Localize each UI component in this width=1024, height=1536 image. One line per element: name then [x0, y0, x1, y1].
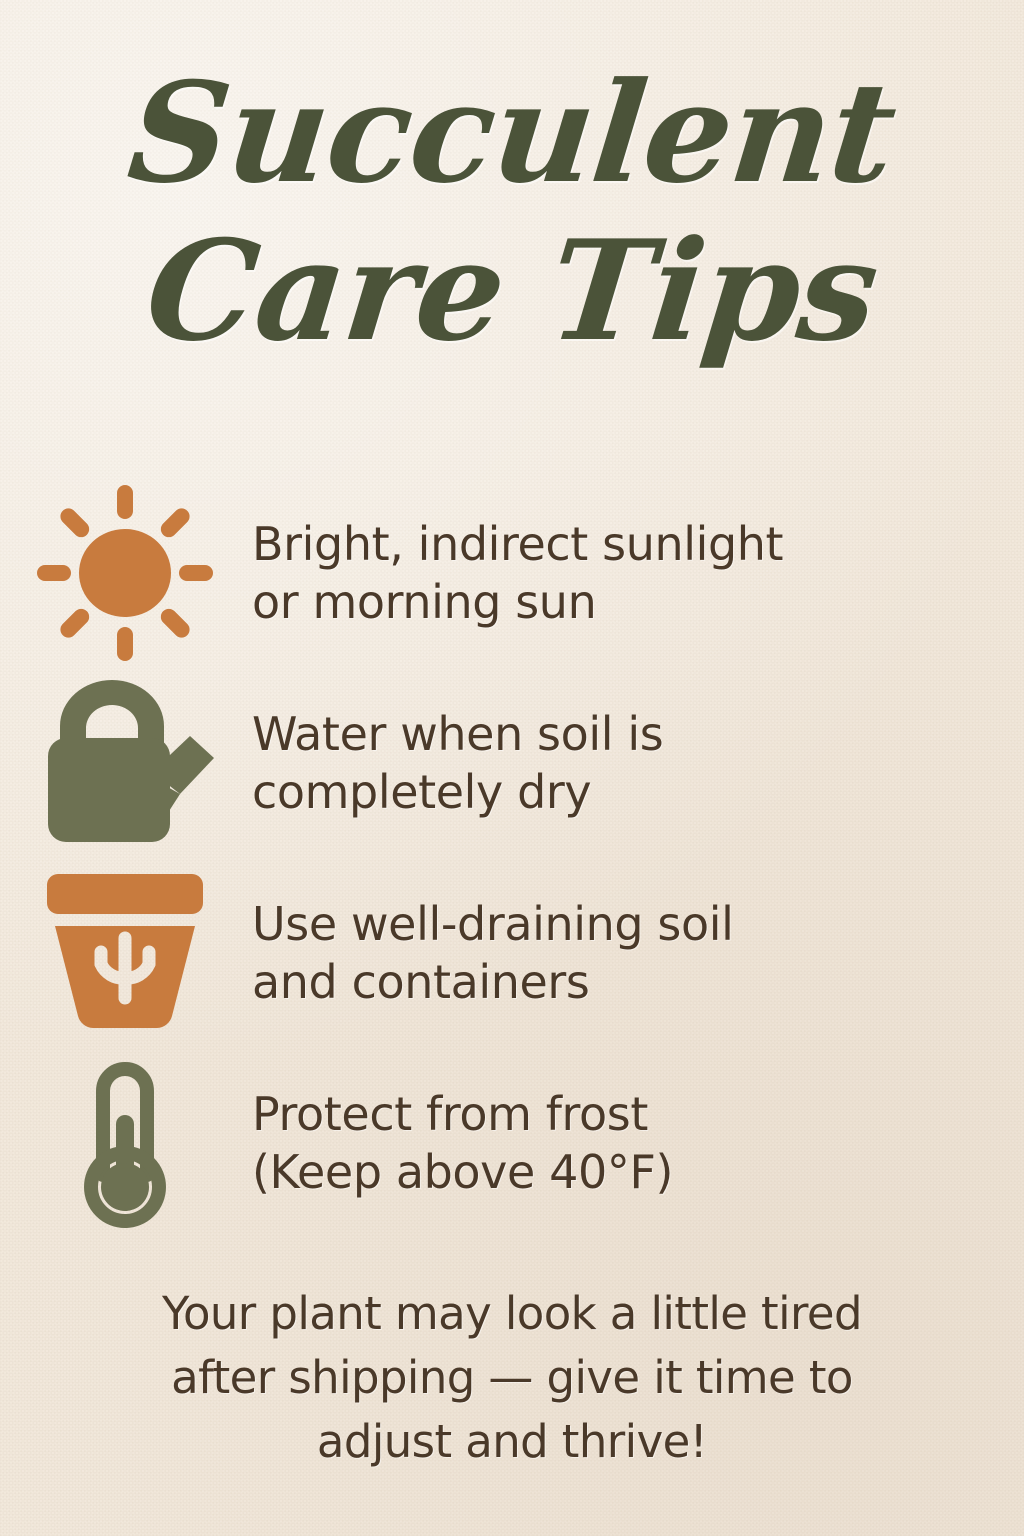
tip-text-soil: Use well-draining soil and containers [250, 895, 734, 1011]
watering-can-icon [30, 676, 220, 851]
tip-line-2: completely dry [252, 763, 663, 821]
tip-line-1: Bright, indirect sunlight [252, 517, 783, 571]
footer-note-line-2: after shipping — give it time to [0, 1346, 1024, 1410]
tip-text-frost: Protect from frost (Keep above 40°F) [250, 1085, 673, 1201]
sun-icon [30, 478, 220, 668]
page-title-line-1: Succulent [0, 58, 1024, 208]
tip-line-1: Protect from frost [252, 1087, 648, 1141]
page-title: Succulent Care Tips [0, 58, 1024, 366]
tip-icon-slot [0, 858, 250, 1048]
tip-icon-slot [0, 1048, 250, 1238]
tip-row-soil: Use well-draining soil and containers [0, 858, 1024, 1048]
tip-row-sunlight: Bright, indirect sunlight or morning sun [0, 478, 1024, 668]
footer-note-line-1: Your plant may look a little tired [0, 1282, 1024, 1346]
tip-text-watering: Water when soil is completely dry [250, 705, 663, 821]
tip-line-2: (Keep above 40°F) [252, 1143, 673, 1201]
tip-icon-slot [0, 668, 250, 858]
tip-text-sunlight: Bright, indirect sunlight or morning sun [250, 515, 783, 631]
tip-row-frost: Protect from frost (Keep above 40°F) [0, 1048, 1024, 1238]
tip-line-1: Use well-draining soil [252, 897, 734, 951]
tip-row-watering: Water when soil is completely dry [0, 668, 1024, 858]
plant-pot-icon [39, 868, 211, 1038]
tip-icon-slot [0, 478, 250, 668]
footer-note-line-3: adjust and thrive! [0, 1410, 1024, 1474]
footer-note: Your plant may look a little tired after… [0, 1282, 1024, 1474]
page-title-line-2: Care Tips [0, 216, 1024, 366]
thermometer-icon [65, 1057, 185, 1229]
care-tips-list: Bright, indirect sunlight or morning sun [0, 478, 1024, 1238]
tip-line-2: and containers [252, 953, 734, 1011]
tip-line-2: or morning sun [252, 573, 783, 631]
succulent-care-tips-poster: Succulent Care Tips [0, 0, 1024, 1536]
tip-line-1: Water when soil is [252, 707, 663, 761]
